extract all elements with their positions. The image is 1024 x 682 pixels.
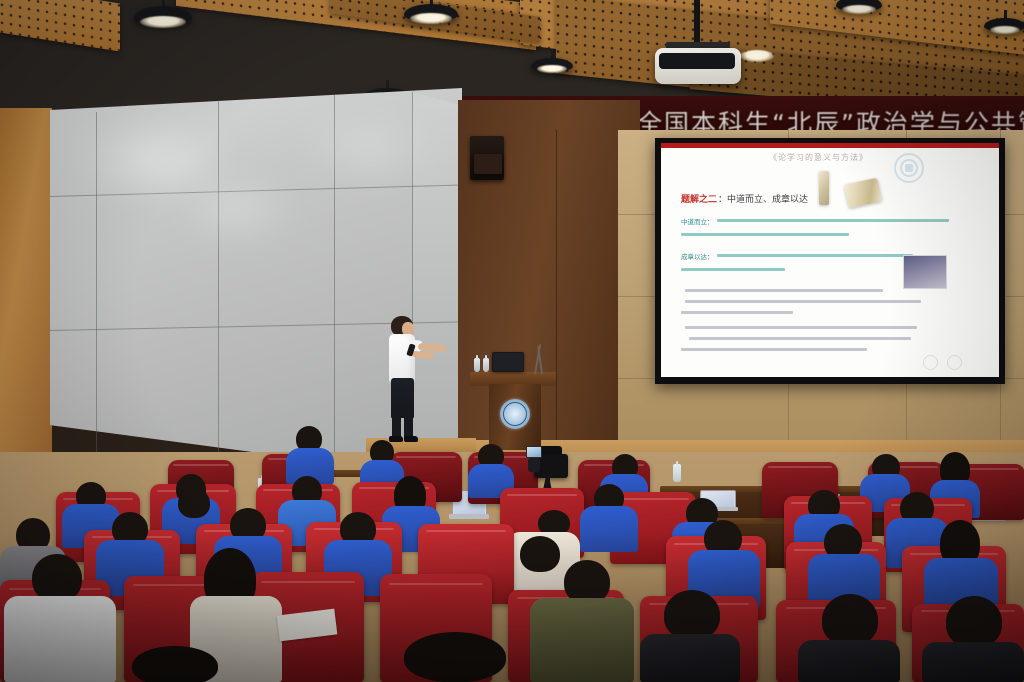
pendant-light-glow [537,65,567,73]
slide-body-line [685,300,921,303]
water-bottle[interactable] [474,358,480,372]
audience-person [530,598,634,682]
slide-body-line [689,337,911,340]
wall-light-wash [176,176,296,242]
presenter-shoe [389,436,403,442]
camera-lens [528,458,540,472]
audience-person [798,640,900,682]
audience-head [664,590,720,640]
slide-para1-line [681,233,849,236]
slide-top-accent-band [661,143,999,148]
slide-body-line [681,311,793,314]
scroll-illustration [819,171,829,205]
wall-seam [556,130,557,448]
audience-head [132,646,218,682]
audience-person [580,506,638,552]
water-bottle[interactable] [483,358,489,372]
pendant-light-glow [410,13,452,24]
podium-emblem-icon [500,399,530,429]
slide-para1-line [717,219,949,222]
fan-illustration [844,178,882,209]
slide-para1-label: 中道而立： [681,216,714,226]
left-wood-wall-panel [0,108,52,464]
podium-laptop[interactable] [492,352,524,372]
audience-head [946,596,1002,648]
audience-head [178,488,210,518]
slide-heading-text: ：中道而立、成章以达 [718,192,808,205]
projector-mount-pole [694,0,700,44]
pendant-light-glow [140,16,186,28]
audience-head [520,536,560,572]
slide-para2-line [681,268,785,271]
audience-person [4,596,116,682]
slide-photo [903,255,947,289]
camera-lcd-screen [526,446,542,458]
projection-screen: 《论学习的意义与方法》 题解之二 ：中道而立、成章以达 中道而立： 成章以达： [661,143,999,377]
lecture-hall-photo: 第一届全国本科生“北辰”政治学与公共管 《论学习的意义与方法》 题解之二 [0,0,1024,682]
slide-heading-label: 题解之二 [681,192,717,205]
pendant-light-glow [990,26,1020,34]
slide-body-line [685,326,917,329]
slide-para2-label: 成章以达： [681,251,714,261]
audience-head [32,554,82,602]
slide-para2-line [717,254,913,257]
slide-control-icon[interactable] [947,355,962,370]
projector-lens-band [659,53,735,69]
wall-light-wash [300,112,440,182]
audience-head [404,632,506,682]
audience-person [640,634,740,682]
audience-person [922,642,1024,682]
pendant-light-glow [842,5,876,14]
slide-title: 《论学习的意义与方法》 [769,152,868,163]
audience-head [822,594,878,646]
slide-control-icon[interactable] [923,355,938,370]
slide-body-line [685,289,883,292]
slide-body-line [681,348,867,351]
water-bottle[interactable] [673,464,681,482]
university-seal-icon [894,153,924,183]
presenter-shoe [404,436,418,442]
wall-speaker-grille [474,154,502,174]
ceiling-spot-glow [740,50,774,62]
